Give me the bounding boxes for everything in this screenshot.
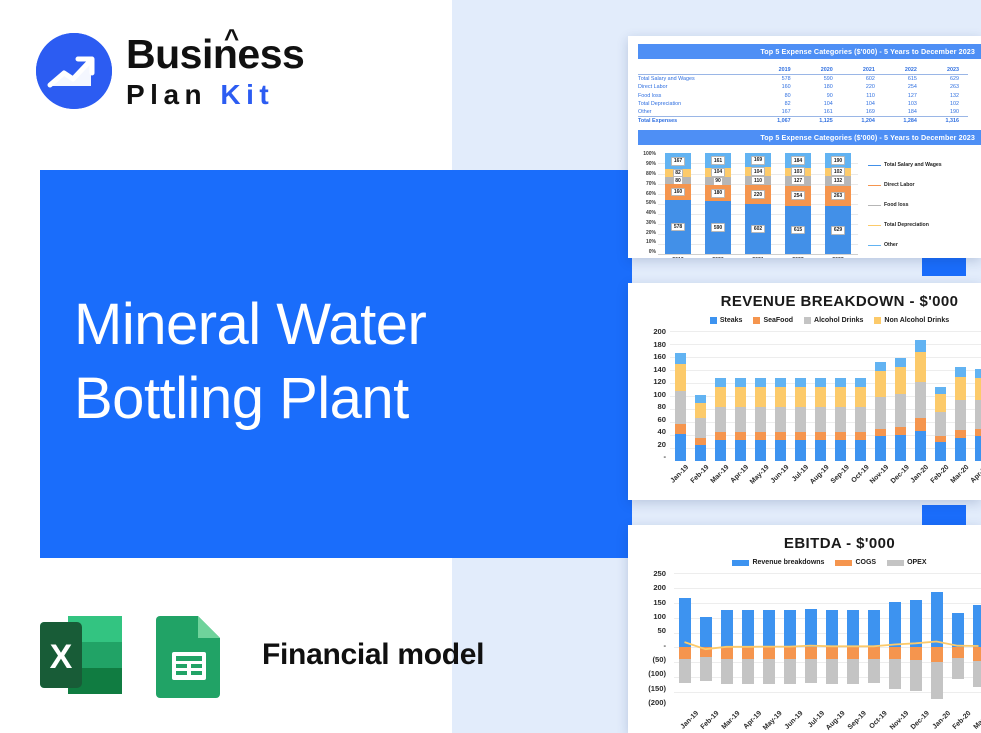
- pct-value-label: 169: [751, 156, 765, 165]
- legend-item: Total Salary and Wages: [868, 162, 978, 168]
- pct-x-tick: 2021: [745, 257, 771, 258]
- bar-segment: [775, 440, 786, 461]
- format-badges: X Financial model: [38, 612, 484, 698]
- cell: 132: [926, 92, 968, 100]
- growth-arrow-icon: [36, 33, 112, 109]
- expense-100pct-stacked-chart: 100%90%80%70%60%50%40%30%20%10%0% 167828…: [628, 149, 981, 258]
- pct-value-label: 190: [831, 156, 845, 165]
- cell: 1,316: [926, 117, 968, 126]
- pct-column: 16110490180590: [705, 153, 731, 254]
- cell: 263: [926, 83, 968, 91]
- pct-segment: 263: [825, 186, 851, 206]
- bar-segment: [955, 367, 966, 376]
- legend-item: Revenue breakdowns: [732, 559, 824, 566]
- brand-name-line2: Plan Kit: [126, 81, 304, 109]
- ebitda-plot-area: [674, 573, 981, 707]
- revenue-bar: [775, 331, 786, 461]
- ebitda-y-tick: (100): [630, 669, 666, 678]
- revenue-bar: [975, 331, 981, 461]
- pct-segment: 578: [665, 200, 691, 255]
- ebitda-y-tick: (50): [630, 655, 666, 664]
- expense-banner-mid: Top 5 Expense Categories ($'000) - 5 Yea…: [638, 130, 981, 145]
- legend-swatch: [732, 560, 749, 566]
- bar-segment: [675, 424, 686, 434]
- bar-segment: [795, 432, 806, 440]
- cell: 127: [884, 92, 926, 100]
- pct-segment: 161: [705, 153, 731, 167]
- table-row: Total Depreciation 82 104 104 103 102: [638, 100, 968, 108]
- ebitda-y-tick: 200: [630, 583, 666, 592]
- pct-value-label: 132: [831, 176, 845, 185]
- revenue-bars: [670, 331, 981, 461]
- legend-item: Non Alcohol Drinks: [874, 317, 949, 324]
- table-row: Other 167 161 169 184 190: [638, 108, 968, 117]
- revenue-x-tick-wrap: Dec-19: [895, 464, 906, 490]
- cell: 104: [800, 100, 842, 108]
- bar-segment: [675, 391, 686, 424]
- cell: 167: [758, 108, 800, 117]
- pct-value-label: 104: [751, 167, 765, 176]
- cell: 1,067: [758, 117, 800, 126]
- bar-segment: [895, 427, 906, 435]
- bar-segment: [895, 435, 906, 461]
- pct-y-tick: 20%: [632, 230, 656, 236]
- revenue-bar: [715, 331, 726, 461]
- legend-item: SeaFood: [753, 317, 793, 324]
- col-2022: 2022: [884, 66, 926, 75]
- bar-segment: [795, 440, 806, 461]
- revenue-y-tick: 60: [630, 415, 666, 424]
- pct-segment: 104: [745, 167, 771, 176]
- pct-value-label: 127: [791, 176, 805, 185]
- bar-segment: [815, 440, 826, 461]
- revenue-breakdown-card[interactable]: REVENUE BREAKDOWN - $'000 SteaksSeaFoodA…: [628, 283, 981, 500]
- pct-segment: 103: [785, 168, 811, 176]
- legend-item: COGS: [835, 559, 876, 566]
- pct-segment: 615: [785, 206, 811, 254]
- bar-segment: [815, 378, 826, 386]
- cell: 629: [926, 75, 968, 84]
- bar-segment: [955, 430, 966, 438]
- col-2020: 2020: [800, 66, 842, 75]
- cell: 180: [800, 83, 842, 91]
- pct-value-label: 167: [671, 157, 685, 166]
- legend-label: Alcohol Drinks: [814, 317, 863, 324]
- table-row: Total Salary and Wages 578 590 602 615 6…: [638, 75, 968, 84]
- pct-y-tick: 70%: [632, 181, 656, 187]
- legend-item: Total Depreciation: [868, 222, 978, 228]
- pct-y-tick: 60%: [632, 191, 656, 197]
- revenue-x-tick-wrap: Apr-20: [975, 464, 981, 490]
- revenue-plot-wrap: 20018016014012010080604020- Jan-19Feb-19…: [628, 327, 981, 495]
- expense-banner-top: Top 5 Expense Categories ($'000) - 5 Yea…: [638, 44, 981, 59]
- pct-segment: 90: [705, 177, 731, 185]
- legend-swatch: [804, 317, 811, 324]
- cell: 110: [842, 92, 884, 100]
- bar-segment: [715, 440, 726, 461]
- pct-segment: 629: [825, 206, 851, 254]
- pct-value-label: 254: [791, 191, 805, 200]
- bar-segment: [815, 387, 826, 407]
- cell: 615: [884, 75, 926, 84]
- ebitda-y-axis: 25020015010050-(50)(100)(150)(200): [630, 569, 666, 707]
- revenue-x-axis: Jan-19Feb-19Mar-19Apr-19May-19Jun-19Jul-…: [670, 464, 981, 490]
- svg-text:X: X: [50, 638, 73, 676]
- pct-x-tick: 2022: [785, 257, 811, 258]
- pct-y-axis: 100%90%80%70%60%50%40%30%20%10%0%: [632, 151, 656, 255]
- revenue-bar: [795, 331, 806, 461]
- legend-label: Non Alcohol Drinks: [884, 317, 949, 324]
- revenue-y-tick: 160: [630, 352, 666, 361]
- pct-legend: Total Salary and WagesDirect LaborFood l…: [868, 155, 978, 255]
- legend-label: Total Depreciation: [884, 222, 929, 228]
- revenue-y-tick: 180: [630, 340, 666, 349]
- bar-segment: [735, 432, 746, 440]
- ebitda-x-axis: Jan-19Feb-19Mar-19Apr-19May-19Jun-19Jul-…: [674, 710, 981, 732]
- revenue-x-tick-wrap: Jan-19: [675, 464, 686, 490]
- pct-y-tick: 10%: [632, 239, 656, 245]
- bar-segment: [975, 369, 981, 378]
- bar-segment: [815, 407, 826, 432]
- bar-segment: [915, 382, 926, 418]
- revenue-y-tick: -: [630, 452, 666, 461]
- bar-segment: [755, 378, 766, 386]
- financial-model-label: Financial model: [262, 638, 484, 672]
- revenue-x-tick-wrap: Nov-19: [875, 464, 886, 490]
- pct-segment: 80: [665, 177, 691, 185]
- revenue-x-tick-wrap: Jun-19: [775, 464, 786, 490]
- col-2019: 2019: [758, 66, 800, 75]
- revenue-y-axis: 20018016014012010080604020-: [630, 327, 666, 461]
- bar-segment: [735, 387, 746, 407]
- revenue-bar: [735, 331, 746, 461]
- legend-item: Alcohol Drinks: [804, 317, 863, 324]
- bar-segment: [835, 440, 846, 461]
- cell: 160: [758, 83, 800, 91]
- table-row: Direct Labor 160 180 220 254 263: [638, 83, 968, 91]
- bar-segment: [935, 412, 946, 435]
- bar-segment: [695, 438, 706, 445]
- bar-segment: [755, 387, 766, 407]
- legend-label: Steaks: [720, 317, 743, 324]
- table-header-row: 2019 2020 2021 2022 2023: [638, 66, 968, 75]
- cell: 90: [800, 92, 842, 100]
- cell: 102: [926, 100, 968, 108]
- pct-segment: 104: [705, 168, 731, 177]
- bar-segment: [915, 418, 926, 431]
- table-total-row: Total Expenses 1,067 1,125 1,204 1,284 1…: [638, 117, 968, 126]
- pct-value-label: 160: [671, 188, 685, 197]
- bar-segment: [715, 378, 726, 386]
- legend-label: SeaFood: [763, 317, 793, 324]
- pct-value-label: 161: [711, 156, 725, 165]
- bar-segment: [855, 432, 866, 440]
- pct-value-label: 629: [831, 226, 845, 235]
- pct-value-label: 602: [751, 225, 765, 234]
- legend-swatch: [868, 225, 881, 227]
- col-2021: 2021: [842, 66, 884, 75]
- revenue-chart-title: REVENUE BREAKDOWN - $'000: [628, 293, 981, 310]
- ebitda-legend: Revenue breakdownsCOGSOPEX: [628, 559, 981, 566]
- legend-label: OPEX: [907, 559, 926, 566]
- pct-y-tick: 30%: [632, 220, 656, 226]
- row-label: Total Depreciation: [638, 100, 758, 108]
- bar-segment: [675, 364, 686, 391]
- bar-segment: [855, 440, 866, 461]
- bar-segment: [755, 440, 766, 461]
- legend-label: Revenue breakdowns: [752, 559, 824, 566]
- cell: 103: [884, 100, 926, 108]
- pct-value-label: 184: [791, 156, 805, 165]
- cell: 184: [884, 108, 926, 117]
- revenue-y-tick: 80: [630, 402, 666, 411]
- bar-segment: [895, 394, 906, 427]
- ebitda-x-tick-wrap: Jan-19: [674, 710, 695, 732]
- google-sheets-icon: [146, 612, 232, 698]
- cell: 578: [758, 75, 800, 84]
- revenue-x-tick-wrap: Sep-19: [835, 464, 846, 490]
- ebitda-y-tick: 50: [630, 626, 666, 635]
- bar-segment: [875, 371, 886, 396]
- legend-label: Direct Labor: [884, 182, 915, 188]
- ebitda-y-tick: -: [630, 641, 666, 650]
- revenue-x-tick-wrap: May-19: [755, 464, 766, 490]
- revenue-x-tick-wrap: Jan-20: [915, 464, 926, 490]
- legend-item: Food loss: [868, 202, 978, 208]
- cell: 602: [842, 75, 884, 84]
- pct-column: 169104110220602: [745, 153, 771, 254]
- bar-segment: [675, 353, 686, 364]
- top-5-expense-categories-card[interactable]: Top 5 Expense Categories ($'000) - 5 Yea…: [628, 36, 981, 258]
- legend-item: Steaks: [710, 317, 743, 324]
- revenue-x-tick-wrap: Feb-20: [935, 464, 946, 490]
- legend-item: Direct Labor: [868, 182, 978, 188]
- legend-swatch: [887, 560, 904, 566]
- bar-segment: [695, 418, 706, 438]
- legend-swatch: [753, 317, 760, 324]
- bar-segment: [755, 432, 766, 440]
- revenue-x-tick-wrap: Apr-19: [735, 464, 746, 490]
- bar-segment: [855, 407, 866, 432]
- pct-segment: 254: [785, 186, 811, 206]
- bar-segment: [795, 387, 806, 407]
- pct-segment: 184: [785, 153, 811, 167]
- bar-segment: [975, 429, 981, 437]
- pct-value-label: 263: [831, 192, 845, 201]
- ebitda-chart-title: EBITDA - $'000: [628, 535, 981, 552]
- pct-segment: 169: [745, 153, 771, 167]
- row-label: Direct Labor: [638, 83, 758, 91]
- bar-segment: [795, 407, 806, 432]
- bar-segment: [835, 407, 846, 432]
- bar-segment: [775, 407, 786, 432]
- pct-y-tick: 0%: [632, 249, 656, 255]
- ebitda-plot-wrap: 25020015010050-(50)(100)(150)(200) Jan-1…: [628, 569, 981, 729]
- ebitda-card[interactable]: EBITDA - $'000 Revenue breakdownsCOGSOPE…: [628, 525, 981, 733]
- pct-segment: 602: [745, 204, 771, 254]
- bar-segment: [955, 438, 966, 461]
- pct-value-label: 615: [791, 226, 805, 235]
- revenue-bar: [755, 331, 766, 461]
- bar-segment: [975, 378, 981, 400]
- bar-segment: [695, 403, 706, 419]
- cell: 161: [800, 108, 842, 117]
- bar-segment: [855, 387, 866, 407]
- revenue-x-tick-wrap: Mar-20: [955, 464, 966, 490]
- pct-x-tick: 2023: [825, 257, 851, 258]
- pct-segment: 160: [665, 184, 691, 199]
- col-blank: [638, 66, 758, 75]
- cell: 1,125: [800, 117, 842, 126]
- pct-x-tick: 2020: [705, 257, 731, 258]
- cell: 169: [842, 108, 884, 117]
- pct-plot-area: 1678280160578161104901805901691041102206…: [658, 153, 858, 255]
- pct-segment: 180: [705, 185, 731, 201]
- legend-item: OPEX: [887, 559, 926, 566]
- revenue-y-tick: 140: [630, 365, 666, 374]
- brand-word-business: Business: [126, 31, 304, 77]
- bar-segment: [835, 432, 846, 440]
- revenue-bar: [855, 331, 866, 461]
- row-label: Total Salary and Wages: [638, 75, 758, 84]
- revenue-bar: [675, 331, 686, 461]
- pct-y-tick: 80%: [632, 171, 656, 177]
- bar-segment: [835, 387, 846, 407]
- revenue-y-tick: 20: [630, 440, 666, 449]
- bar-segment: [735, 440, 746, 461]
- pct-y-tick: 100%: [632, 151, 656, 157]
- bar-segment: [775, 387, 786, 407]
- cell: 1,204: [842, 117, 884, 126]
- ebitda-y-tick: 150: [630, 598, 666, 607]
- pct-value-label: 590: [711, 223, 725, 232]
- pct-x-tick: 2019: [665, 257, 691, 258]
- brand-logo: Business ^ Plan Kit: [36, 32, 304, 109]
- revenue-x-tick-wrap: Aug-19: [815, 464, 826, 490]
- bar-segment: [695, 395, 706, 402]
- brand-name-line1: Business ^: [126, 34, 304, 75]
- bar-segment: [955, 377, 966, 400]
- bar-segment: [755, 407, 766, 432]
- bar-segment: [855, 378, 866, 386]
- pct-y-tick: 90%: [632, 161, 656, 167]
- pct-segment: 190: [825, 153, 851, 168]
- bar-segment: [975, 436, 981, 461]
- revenue-bar: [935, 331, 946, 461]
- bar-segment: [875, 436, 886, 461]
- revenue-legend: SteaksSeaFoodAlcohol DrinksNon Alcohol D…: [628, 317, 981, 324]
- bar-segment: [795, 378, 806, 386]
- legend-swatch: [868, 245, 881, 247]
- revenue-bar: [835, 331, 846, 461]
- bar-segment: [895, 367, 906, 394]
- brand-word-plan: Plan: [126, 79, 220, 110]
- cell: 1,284: [884, 117, 926, 126]
- row-label: Other: [638, 108, 758, 117]
- revenue-y-tick: 40: [630, 427, 666, 436]
- pct-value-label: 578: [671, 223, 685, 232]
- pct-segment: 167: [665, 153, 691, 169]
- pct-value-label: 220: [751, 190, 765, 199]
- pct-segment: 127: [785, 176, 811, 186]
- bar-segment: [935, 387, 946, 394]
- revenue-bar: [895, 331, 906, 461]
- bar-segment: [675, 434, 686, 461]
- cell: 190: [926, 108, 968, 117]
- bar-segment: [895, 358, 906, 367]
- page-title: Mineral Water Bottling Plant: [74, 288, 426, 435]
- expense-table: 2019 2020 2021 2022 2023 Total Salary an…: [638, 66, 968, 125]
- bar-segment: [975, 400, 981, 429]
- pct-value-label: 104: [711, 168, 725, 177]
- pct-column: 190102132263629: [825, 153, 851, 254]
- bar-segment: [935, 394, 946, 412]
- pct-segment: 220: [745, 185, 771, 203]
- bar-segment: [815, 432, 826, 440]
- pct-column: 1678280160578: [665, 153, 691, 254]
- revenue-bar: [915, 331, 926, 461]
- pct-segment: 590: [705, 201, 731, 254]
- brand-word-kit: Kit: [220, 79, 274, 110]
- bar-segment: [915, 352, 926, 383]
- ebitda-y-tick: (200): [630, 698, 666, 707]
- revenue-bar: [695, 331, 706, 461]
- revenue-plot-area: [670, 331, 981, 461]
- bar-segment: [735, 407, 746, 432]
- ebitda-y-tick: (150): [630, 684, 666, 693]
- legend-swatch: [868, 185, 881, 187]
- bar-segment: [915, 431, 926, 461]
- revenue-y-tick: 200: [630, 327, 666, 336]
- legend-swatch: [835, 560, 852, 566]
- ebitda-y-tick: 100: [630, 612, 666, 621]
- bar-segment: [715, 432, 726, 440]
- pct-segment: 132: [825, 176, 851, 186]
- bar-segment: [835, 378, 846, 386]
- row-label: Total Expenses: [638, 117, 758, 126]
- bar-segment: [875, 429, 886, 437]
- pct-value-label: 110: [751, 176, 764, 185]
- bar-segment: [715, 387, 726, 407]
- legend-label: Food loss: [884, 202, 909, 208]
- cell: 104: [842, 100, 884, 108]
- legend-label: Other: [884, 242, 898, 248]
- bar-segment: [695, 445, 706, 461]
- revenue-bar: [815, 331, 826, 461]
- pct-value-label: 180: [711, 189, 725, 198]
- excel-icon: X: [38, 612, 124, 698]
- bar-segment: [775, 432, 786, 440]
- table-row: Food loss 80 90 110 127 132: [638, 92, 968, 100]
- bar-segment: [875, 397, 886, 429]
- pct-column: 184103127254615: [785, 153, 811, 254]
- pct-segment: 102: [825, 168, 851, 176]
- pct-x-axis: 20192020202120222023: [658, 257, 858, 258]
- col-2023: 2023: [926, 66, 968, 75]
- bar-segment: [775, 378, 786, 386]
- legend-swatch: [874, 317, 881, 324]
- bar-segment: [875, 362, 886, 372]
- revenue-y-tick: 100: [630, 390, 666, 399]
- legend-swatch: [868, 205, 881, 207]
- pct-y-tick: 40%: [632, 210, 656, 216]
- legend-swatch: [868, 165, 881, 167]
- legend-label: Total Salary and Wages: [884, 162, 942, 168]
- bar-segment: [735, 378, 746, 386]
- revenue-bar: [875, 331, 886, 461]
- cell: 80: [758, 92, 800, 100]
- legend-item: Other: [868, 242, 978, 248]
